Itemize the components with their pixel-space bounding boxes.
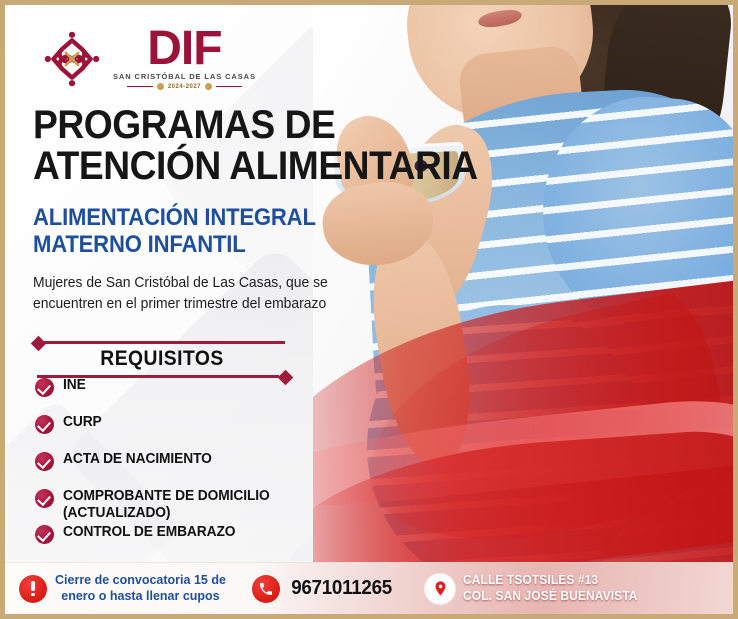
term-dot-right <box>205 83 212 90</box>
phone-number[interactable]: 9671011265 <box>291 577 392 600</box>
list-item: COMPROBANTE DE DOMICILIO (ACTUALIZADO) <box>35 488 335 522</box>
program-subtitle: ALIMENTACIÓN INTEGRAL MATERNO INFANTIL <box>33 205 316 259</box>
check-circle-icon <box>35 452 54 471</box>
list-item: ACTA DE NACIMIENTO <box>35 451 335 471</box>
term-rule-left <box>127 86 153 88</box>
requirements-title: REQUISITOS <box>43 346 280 372</box>
dif-subtitle: SAN CRISTÓBAL DE LAS CASAS <box>113 72 256 81</box>
warning-icon <box>19 575 47 603</box>
dif-term: 2024-2027 <box>127 83 242 90</box>
requirements-header: REQUISITOS <box>33 338 291 380</box>
footer-address: CALLE TSOTSILES #13 COL. SAN JOSÉ BUENAV… <box>425 573 645 604</box>
term-years: 2024-2027 <box>168 84 201 90</box>
requirements-list: INE CURP ACTA DE NACIMIENTO COMPROBANTE … <box>35 377 335 561</box>
dif-knot-emblem <box>41 28 103 90</box>
requirement-label: CURP <box>63 414 102 431</box>
list-item: CURP <box>35 414 335 434</box>
eligibility-description: Mujeres de San Cristóbal de Las Casas, q… <box>33 273 379 315</box>
check-circle-icon <box>35 489 54 508</box>
requirement-label: ACTA DE NACIMIENTO <box>63 451 212 468</box>
rule-bar <box>41 341 285 344</box>
check-circle-icon <box>35 378 54 397</box>
requirement-label: INE <box>63 377 86 394</box>
check-circle-icon <box>35 525 54 544</box>
dif-logo: DIF SAN CRISTÓBAL DE LAS CASAS 2024-2027 <box>41 27 256 90</box>
page-title: PROGRAMAS DE ATENCIÓN ALIMENTARIA <box>33 105 478 187</box>
footer-bar: Cierre de convocatoria 15 de enero o has… <box>5 562 733 614</box>
location-pin-icon <box>425 574 455 604</box>
dif-wordmark: DIF SAN CRISTÓBAL DE LAS CASAS 2024-2027 <box>113 27 256 90</box>
requirement-label: COMPROBANTE DE DOMICILIO (ACTUALIZADO) <box>63 488 270 522</box>
footer-phone[interactable]: 9671011265 <box>252 575 395 603</box>
footer-notice: Cierre de convocatoria 15 de enero o has… <box>19 573 226 604</box>
term-dot-left <box>157 83 164 90</box>
phone-icon <box>252 575 280 603</box>
term-rule-right <box>216 86 242 88</box>
dif-name: DIF <box>147 27 221 71</box>
address-text: CALLE TSOTSILES #13 COL. SAN JOSÉ BUENAV… <box>463 573 638 604</box>
list-item: INE <box>35 377 335 397</box>
requirements-rule-top <box>33 338 291 346</box>
notice-text: Cierre de convocatoria 15 de enero o has… <box>55 573 226 604</box>
poster: DIF SAN CRISTÓBAL DE LAS CASAS 2024-2027… <box>0 0 738 619</box>
check-circle-icon <box>35 415 54 434</box>
requirement-label: CONTROL DE EMBARAZO <box>63 524 235 541</box>
list-item: CONTROL DE EMBARAZO <box>35 524 335 544</box>
